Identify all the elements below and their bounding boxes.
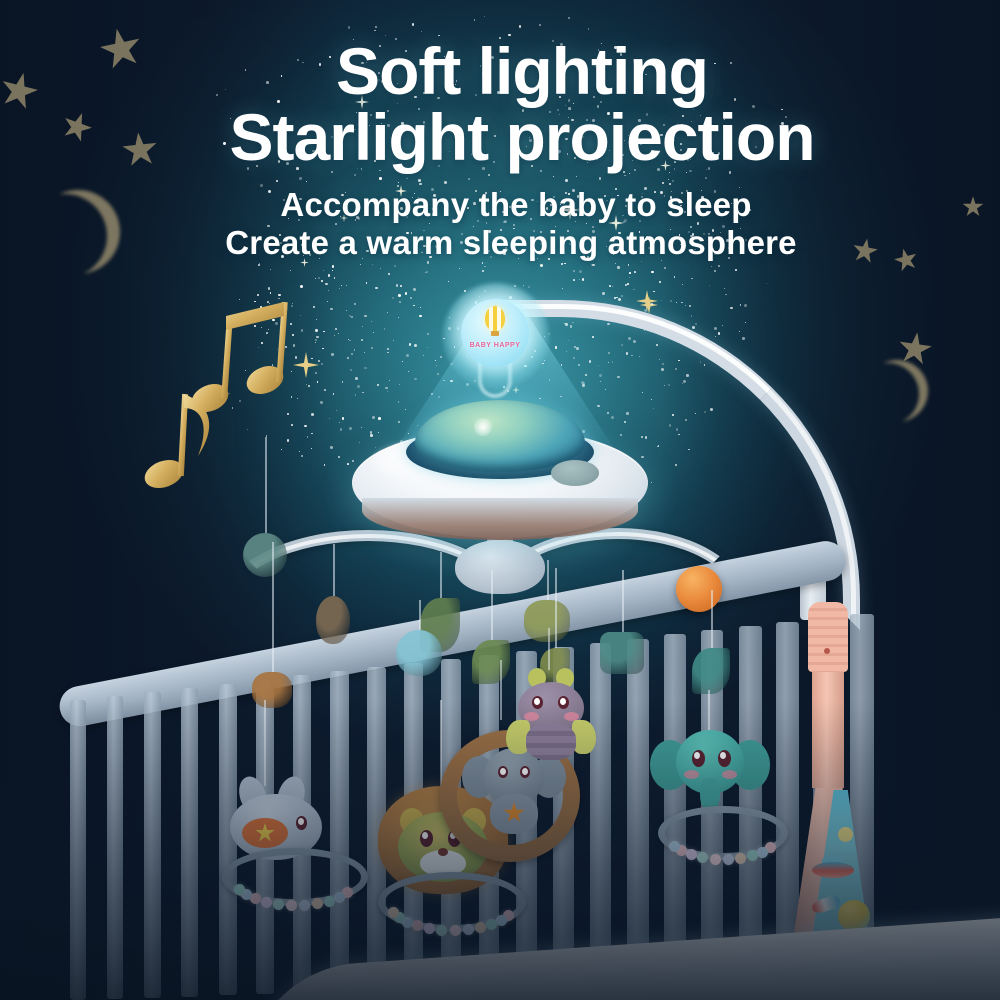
star-dot	[539, 24, 541, 26]
star-dot	[261, 327, 262, 328]
star-dot	[375, 287, 378, 290]
star-dot	[582, 278, 585, 281]
star-dot	[664, 267, 666, 269]
star-dot	[378, 432, 379, 433]
star-dot	[378, 417, 381, 420]
star-dot	[360, 264, 361, 265]
star-dot	[300, 285, 303, 288]
star-dot	[426, 271, 428, 273]
star-dot	[364, 367, 367, 370]
star-dot	[334, 335, 335, 336]
star-dot	[419, 315, 422, 318]
star-dot	[387, 312, 388, 313]
star-dot	[435, 360, 436, 361]
star-dot	[715, 336, 716, 337]
star-dot	[287, 413, 289, 415]
star-dot	[323, 331, 325, 333]
star-dot	[735, 269, 737, 271]
star-dot	[301, 455, 304, 458]
star-dot	[669, 183, 671, 185]
star-dot	[414, 378, 417, 381]
star-dot	[405, 409, 406, 410]
star-dot	[653, 291, 654, 292]
star-dot	[396, 284, 399, 287]
star-dot	[279, 358, 281, 360]
star-dot	[300, 315, 301, 316]
star-dot	[725, 294, 727, 296]
product-hero-image: BABY HAPPY	[0, 0, 1000, 1000]
star-dot	[340, 428, 343, 431]
star-dot	[573, 279, 575, 281]
star-dot	[722, 325, 723, 326]
star-dot	[258, 347, 259, 348]
star-dot	[579, 279, 581, 281]
star-dot	[370, 434, 373, 437]
pendant-flower-olive-line	[547, 560, 549, 600]
star-dot	[745, 322, 746, 323]
star-dot	[661, 300, 663, 302]
star-dot	[392, 297, 394, 299]
star-dot	[354, 349, 355, 350]
star-dot	[324, 389, 326, 391]
star-dot	[292, 303, 293, 304]
star-dot	[332, 270, 333, 271]
star-dot	[267, 301, 269, 303]
star-dot	[278, 294, 280, 296]
star-dot	[662, 182, 664, 184]
star-dot	[228, 393, 230, 395]
star-dot	[565, 179, 568, 182]
star-dot	[393, 340, 394, 341]
mount-ribbed-neck	[808, 602, 848, 672]
star-dot	[330, 308, 333, 311]
star-dot	[408, 371, 409, 372]
star-dot	[347, 357, 349, 359]
star-dot	[711, 266, 713, 268]
star-dot	[468, 178, 470, 180]
star-dot	[291, 424, 293, 426]
mount-indicator-dot	[824, 648, 830, 654]
star-dot	[362, 326, 363, 327]
star-dot	[394, 265, 396, 267]
star-dot	[317, 381, 319, 383]
star-dot	[670, 300, 672, 302]
star-dot	[724, 288, 725, 289]
star-dot	[350, 369, 352, 371]
star-dot	[389, 380, 390, 381]
star-dot	[354, 303, 356, 305]
star-dot	[388, 273, 390, 275]
star-dot	[634, 271, 636, 273]
star-dot	[576, 176, 577, 177]
star-dot	[668, 179, 669, 180]
star-dot	[327, 301, 328, 302]
star-dot	[421, 31, 422, 32]
star-dot	[336, 410, 337, 411]
star-dot	[681, 302, 683, 304]
star-dot	[323, 270, 324, 271]
star-dot	[247, 429, 248, 430]
star-dot	[685, 305, 686, 306]
star-dot	[739, 331, 740, 332]
star-dot	[355, 377, 358, 380]
pendant-flower-olive	[524, 600, 570, 642]
star-dot	[328, 274, 331, 277]
star-dot	[316, 336, 319, 339]
star-dot	[325, 283, 328, 286]
star-dot	[338, 333, 339, 334]
star-dot	[270, 292, 271, 293]
star-dot	[766, 283, 768, 285]
star-dot	[239, 400, 241, 402]
star-dot	[398, 294, 401, 297]
star-dot	[320, 401, 323, 404]
star-dot	[339, 422, 340, 423]
star-dot	[423, 355, 424, 356]
star-dot	[714, 270, 716, 272]
star-dot	[351, 353, 353, 355]
headline-line-1: Soft lighting	[0, 38, 1000, 104]
star-dot	[474, 19, 476, 21]
star-dot	[232, 407, 234, 409]
star-dot	[624, 175, 626, 177]
pendant-leaf-teal	[692, 648, 730, 694]
star-dot	[304, 425, 307, 428]
star-dot	[659, 281, 660, 282]
star-dot	[362, 392, 364, 394]
star-dot	[488, 174, 491, 177]
star-dot	[349, 340, 351, 342]
star-dot	[269, 303, 270, 304]
star-dot	[315, 339, 317, 341]
star-dot	[261, 342, 263, 344]
projector-control-button[interactable]	[551, 460, 599, 486]
star-dot	[257, 294, 259, 296]
star-dot	[331, 353, 334, 356]
star-dot	[612, 286, 613, 287]
star-dot	[579, 270, 582, 273]
pendant-cone-blue	[396, 630, 442, 676]
ornament-caption: BABY HAPPY	[466, 342, 524, 349]
star-dot	[718, 332, 721, 335]
star-dot	[682, 284, 683, 285]
star-dot	[339, 288, 340, 289]
star-dot	[553, 176, 554, 177]
star-dot	[437, 373, 439, 375]
star-dot	[306, 181, 307, 182]
star-dot	[676, 302, 677, 303]
pendant-pentagon-teal-line	[622, 570, 624, 632]
star-dot	[287, 439, 289, 441]
star-dot	[231, 324, 232, 325]
star-dot	[519, 25, 521, 27]
toy-bee-tether	[548, 628, 550, 670]
star-dot	[355, 394, 357, 396]
star-dot	[377, 384, 379, 386]
star-dot	[385, 387, 388, 390]
star-dot	[346, 310, 347, 311]
star-dot	[349, 427, 352, 430]
star-dot	[354, 174, 356, 176]
star-dot	[387, 391, 388, 392]
star-dot	[287, 308, 288, 309]
star-dot	[341, 285, 342, 286]
star-dot	[280, 326, 282, 328]
star-dot	[254, 325, 256, 327]
star-dot	[359, 442, 360, 443]
bottom-vignette	[0, 700, 1000, 1000]
star-dot	[651, 271, 653, 273]
star-dot	[398, 401, 400, 403]
star-dot	[299, 177, 302, 180]
star-dot	[375, 26, 377, 28]
star-dot	[372, 264, 374, 266]
star-dot	[364, 315, 366, 317]
subheadline-line-1: Accompany the baby to sleep	[0, 186, 1000, 224]
star-dot	[332, 265, 334, 267]
star-dot	[333, 393, 335, 395]
pendant-cone-blue-line	[419, 600, 421, 630]
star-dot	[384, 328, 385, 329]
star-dot	[321, 363, 323, 365]
star-dot	[322, 348, 323, 349]
star-dot	[324, 464, 326, 466]
star-dot	[297, 398, 298, 399]
star-dot	[372, 416, 375, 419]
star-dot	[334, 277, 335, 278]
headline-line-2: Starlight projection	[0, 104, 1000, 170]
star-dot	[615, 263, 616, 264]
star-dot	[361, 427, 362, 428]
star-dot	[599, 177, 602, 180]
star-dot	[347, 463, 349, 465]
star-dot	[564, 263, 566, 265]
star-dot	[364, 352, 365, 353]
star-dot	[402, 361, 404, 363]
star-dot	[292, 334, 294, 336]
subheadline-line-2: Create a warm sleeping atmosphere	[0, 224, 1000, 262]
star-dot	[444, 181, 447, 184]
star-dot	[330, 446, 333, 449]
pendant-pentagon-teal	[600, 632, 644, 674]
star-dot	[315, 329, 318, 332]
star-dot	[689, 305, 691, 307]
star-dot	[387, 348, 389, 350]
star-dot	[523, 285, 524, 286]
star-dot	[352, 460, 354, 462]
star-dot	[366, 282, 367, 283]
pendant-leaf-brown	[316, 596, 350, 644]
star-dot	[691, 278, 693, 280]
star-dot	[561, 263, 563, 265]
star-dot	[602, 292, 605, 295]
pendant-leaf-teal-line	[711, 590, 713, 648]
star-dot	[398, 317, 399, 318]
star-dot	[277, 349, 278, 350]
star-dot	[482, 262, 483, 263]
star-dot	[307, 436, 309, 438]
star-dot	[270, 269, 271, 270]
star-dot	[374, 30, 376, 32]
pendant-leaf-olive-line	[555, 568, 557, 648]
star-dot	[380, 268, 381, 269]
star-dot	[371, 347, 373, 349]
star-dot	[427, 333, 429, 335]
star-dot	[412, 23, 415, 26]
star-dot	[410, 297, 412, 299]
star-dot	[266, 332, 268, 334]
star-dot	[239, 299, 240, 300]
star-dot	[418, 179, 421, 182]
star-dot	[361, 339, 363, 341]
star-dot	[291, 305, 293, 307]
star-dot	[225, 342, 227, 344]
star-dot	[281, 449, 282, 450]
star-dot	[592, 264, 595, 267]
star-dot	[399, 384, 400, 385]
star-dot	[321, 280, 323, 282]
star-dot	[293, 344, 296, 347]
star-dot	[306, 384, 307, 385]
star-dot	[268, 287, 271, 290]
star-dot	[744, 304, 747, 307]
star-dot	[692, 326, 695, 329]
star-dot	[398, 421, 400, 423]
star-dot	[348, 26, 351, 29]
star-dot	[285, 346, 287, 348]
star-dot	[316, 319, 317, 320]
star-dot	[346, 285, 348, 287]
star-dot	[625, 284, 628, 287]
star-dot	[674, 276, 676, 278]
star-dot	[315, 342, 316, 343]
star-dot	[614, 297, 616, 299]
star-dot	[399, 301, 401, 303]
star-dot	[375, 447, 376, 448]
star-dot	[633, 289, 634, 290]
star-dot	[276, 369, 277, 370]
star-dot	[672, 180, 674, 182]
star-dot	[342, 417, 344, 419]
star-dot	[629, 277, 631, 279]
star-dot	[275, 315, 276, 316]
star-dot	[311, 448, 312, 449]
mobile-hub	[455, 540, 545, 594]
star-dot	[379, 177, 382, 180]
star-dot	[290, 323, 293, 326]
star-dot	[528, 286, 530, 288]
star-dot	[318, 277, 321, 280]
star-dot	[406, 178, 408, 180]
star-dot	[311, 433, 313, 435]
star-dot	[291, 371, 292, 372]
star-dot	[714, 327, 717, 330]
star-dot	[540, 264, 543, 267]
star-dot	[448, 281, 449, 282]
pendant-leaf-brown-line	[333, 544, 335, 596]
star-dot	[413, 305, 415, 307]
star-dot	[628, 264, 630, 266]
star-dot	[709, 285, 710, 286]
star-dot	[420, 307, 421, 308]
star-dot	[311, 358, 313, 360]
star-dot	[329, 418, 330, 419]
star-dot	[290, 270, 291, 271]
star-dot	[573, 270, 575, 272]
pendant-leaf-green-2-line	[491, 570, 493, 640]
star-dot	[629, 272, 631, 274]
star-dot	[373, 332, 374, 333]
star-dot	[568, 17, 570, 19]
star-dot	[742, 337, 745, 340]
star-dot	[254, 301, 255, 302]
star-dot	[250, 321, 251, 322]
star-dot	[691, 315, 693, 317]
star-dot	[562, 288, 563, 289]
star-dot	[349, 315, 351, 317]
star-dot	[609, 285, 612, 288]
star-dot	[436, 365, 437, 366]
star-dot	[400, 285, 402, 287]
star-dot	[291, 396, 292, 397]
balloon-basket-icon	[491, 331, 499, 336]
star-dot	[311, 413, 314, 416]
star-dot	[484, 266, 485, 267]
star-dot	[405, 292, 407, 294]
star-dot	[482, 270, 484, 272]
star-dot	[262, 377, 264, 379]
star-dot	[301, 329, 304, 332]
star-dot	[484, 16, 485, 17]
star-dot	[338, 456, 340, 458]
star-dot	[275, 322, 278, 325]
star-dot	[414, 344, 417, 347]
star-dot	[718, 265, 720, 267]
star-dot	[730, 307, 733, 310]
star-dot	[440, 356, 442, 358]
star-dot	[335, 328, 337, 330]
star-dot	[651, 303, 653, 305]
star-dot	[740, 304, 742, 306]
star-dot	[695, 323, 697, 325]
star-dot	[617, 266, 620, 269]
star-dot	[398, 182, 400, 184]
star-dot	[425, 272, 426, 273]
star-dot	[342, 381, 343, 382]
star-dot	[268, 329, 269, 330]
star-dot	[621, 295, 623, 297]
star-dot	[278, 298, 279, 299]
star-dot	[299, 451, 301, 453]
star-dot	[406, 354, 409, 357]
pendant-flower-orange-line	[272, 542, 274, 672]
star-dot	[348, 339, 349, 340]
star-dot	[371, 321, 372, 322]
star-dot	[409, 343, 411, 345]
star-dot	[351, 316, 353, 318]
toy-orange-ball	[676, 566, 722, 612]
star-dot	[618, 298, 621, 301]
star-dot	[276, 180, 278, 182]
star-dot	[318, 360, 320, 362]
star-dot	[357, 385, 360, 388]
star-dot	[315, 372, 317, 374]
star-dot	[260, 306, 262, 308]
star-dot	[459, 268, 460, 269]
star-dot	[258, 264, 260, 266]
star-dot	[705, 177, 708, 180]
star-dot	[259, 263, 261, 265]
